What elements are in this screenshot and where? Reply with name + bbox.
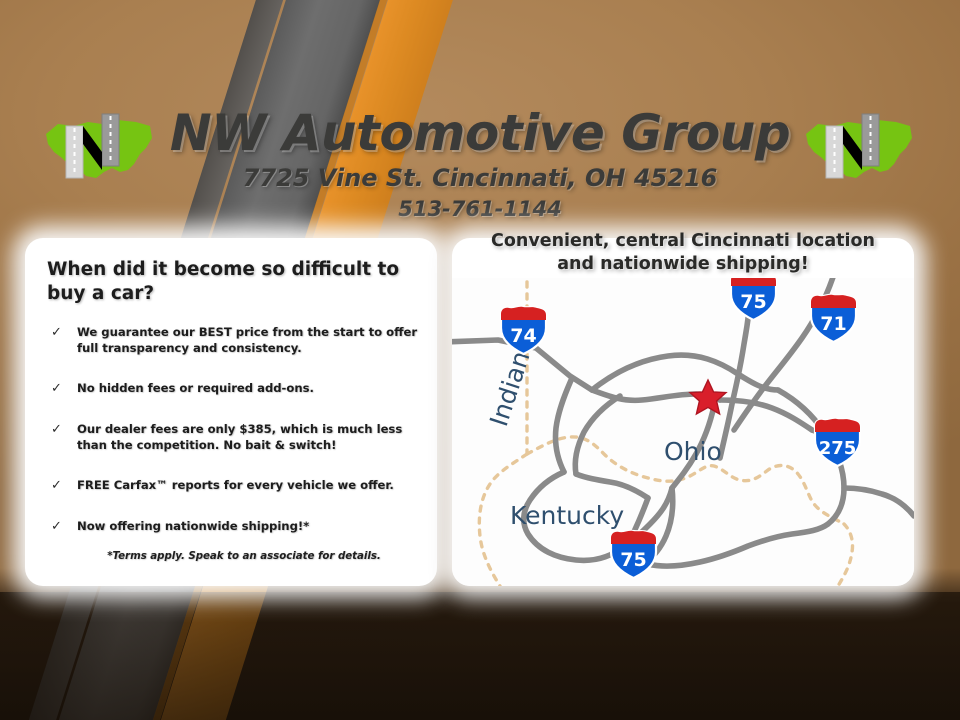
- terms-disclaimer: *Terms apply. Speak to an associate for …: [25, 551, 437, 562]
- list-item-label: We guarantee our BEST price from the sta…: [77, 324, 423, 357]
- benefits-heading: When did it become so difficult to buy a…: [47, 258, 419, 305]
- location-heading: Convenient, central Cincinnati location …: [452, 230, 914, 277]
- benefits-panel: When did it become so difficult to buy a…: [25, 238, 437, 586]
- state-label-ohio: Ohio: [664, 437, 722, 466]
- check-icon: ✓: [47, 324, 77, 357]
- shield-label-75-north: 75: [740, 291, 766, 313]
- slide-canvas: NW Automotive Group 7725 Vine St. Cincin…: [0, 0, 960, 720]
- list-item: ✓ Our dealer fees are only $385, which i…: [47, 421, 423, 454]
- brand-phone: 513-761-1144: [0, 197, 960, 221]
- shield-label-71: 71: [820, 313, 846, 335]
- location-heading-line2: and nationwide shipping!: [452, 253, 914, 276]
- check-icon: ✓: [47, 380, 77, 398]
- header: NW Automotive Group 7725 Vine St. Cincin…: [0, 0, 960, 230]
- list-item: ✓ FREE Carfax™ reports for every vehicle…: [47, 477, 423, 495]
- list-item-label: No hidden fees or required add-ons.: [77, 380, 423, 398]
- list-item: ✓ Now offering nationwide shipping!*: [47, 518, 423, 536]
- list-item: ✓ We guarantee our BEST price from the s…: [47, 324, 423, 357]
- interstate-shield-275: 275: [815, 419, 860, 466]
- nw-automotive-group-logo-secondary: [800, 108, 920, 188]
- check-icon: ✓: [47, 421, 77, 454]
- shield-label-275: 275: [819, 438, 857, 459]
- shield-label-75-south: 75: [620, 549, 646, 571]
- list-item-label: Now offering nationwide shipping!*: [77, 518, 423, 536]
- benefits-list: ✓ We guarantee our BEST price from the s…: [47, 324, 423, 559]
- state-label-kentucky: Kentucky: [510, 501, 624, 530]
- location-panel: Convenient, central Cincinnati location …: [452, 238, 914, 586]
- map-graphic: Indiana Ohio Kentucky 74 75 71: [452, 278, 914, 586]
- shield-label-74: 74: [510, 325, 536, 347]
- location-heading-line1: Convenient, central Cincinnati location: [452, 230, 914, 253]
- cincinnati-region-map: Indiana Ohio Kentucky 74 75 71: [452, 278, 914, 586]
- list-item: ✓ No hidden fees or required add-ons.: [47, 380, 423, 398]
- list-item-label: FREE Carfax™ reports for every vehicle w…: [77, 477, 423, 495]
- check-icon: ✓: [47, 477, 77, 495]
- list-item-label: Our dealer fees are only $385, which is …: [77, 421, 423, 454]
- check-icon: ✓: [47, 518, 77, 536]
